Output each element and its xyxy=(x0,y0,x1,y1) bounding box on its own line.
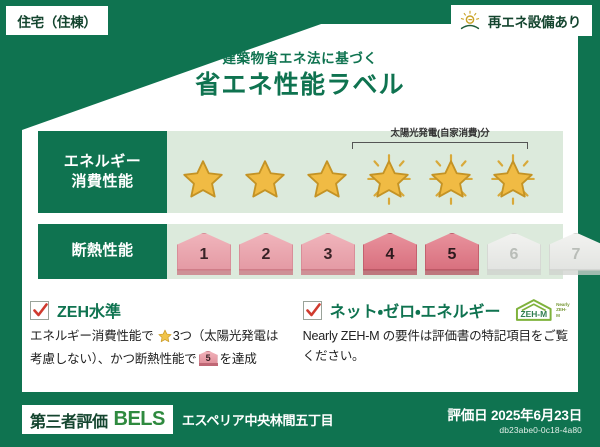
third-party-evaluation-text: 第三者評価 xyxy=(30,408,108,432)
property-name: エスペリア中央林間五丁目 xyxy=(182,410,334,429)
zeh-m-logo-subtext: Nearly ZEH-M xyxy=(556,302,570,318)
insulation-grade-4: 4 xyxy=(359,229,421,275)
dwelling-type-tag: 住宅（住棟） xyxy=(6,6,108,35)
zeh-body-before-star: エネルギー消費性能で xyxy=(30,329,153,343)
netzero-checkbox[interactable] xyxy=(303,301,322,320)
netzero-panel-header: ネット・ゼロ・エネルギー ZEH-M Nearly ZEH-M xyxy=(303,298,570,322)
svg-text:ZEH-M: ZEH-M xyxy=(520,309,547,319)
label-title-block: 建築物省エネ法に基づく 省エネ性能ラベル xyxy=(0,52,600,99)
star-5 xyxy=(421,152,483,210)
energy-performance-label-box: エネルギー 消費性能 xyxy=(38,131,167,213)
zeh-panel-header: ZEH水準 xyxy=(30,298,289,322)
evaluation-date: 評価日 2025年6月23日 xyxy=(447,404,582,424)
star-1 xyxy=(173,152,235,210)
footer-bar: 第三者評価 BELS エスペリア中央林間五丁目 評価日 2025年6月23日 d… xyxy=(0,392,600,447)
insulation-performance-label-box: 断熱性能 xyxy=(38,224,167,279)
star-6 xyxy=(483,152,545,210)
insulation-grade-number: 1 xyxy=(177,247,231,263)
insulation-grade-number: 4 xyxy=(363,247,417,263)
insulation-grade-6: 6 xyxy=(483,229,545,275)
insulation-grade-number: 6 xyxy=(487,247,541,263)
energy-performance-label: 住宅（住棟） 再エネ設備あり 建築物省エネ法に基づく 省エネ性能ラベル xyxy=(0,0,600,447)
insulation-grade-5: 5 xyxy=(421,229,483,275)
inline-star-icon xyxy=(158,329,172,350)
zeh-body-end: を達成 xyxy=(220,352,257,366)
bels-logo-text: BELS xyxy=(114,408,165,431)
sun-icon xyxy=(458,9,482,33)
insulation-grade-7: 7 xyxy=(545,229,600,275)
insulation-performance-row: 断熱性能 1 2 3 4 xyxy=(38,224,563,279)
zeh-panel-body: エネルギー消費性能で 3つ（太陽光発電は考慮しない）、かつ断熱性能で5を達成 xyxy=(30,327,289,369)
zeh-m-sub-line2: ZEH-M xyxy=(556,307,566,317)
evaluation-info: 評価日 2025年6月23日 db23abe0-0c18-4a80 xyxy=(447,404,582,435)
energy-label-line1: エネルギー xyxy=(64,152,142,172)
energy-star-scale xyxy=(167,131,563,213)
insulation-grade-list: 1 2 3 4 5 xyxy=(167,224,563,279)
insulation-grade-2: 2 xyxy=(235,229,297,275)
dwelling-type-text: 住宅（住棟） xyxy=(17,11,96,31)
netzero-panel-title: ネット・ゼロ・エネルギー xyxy=(330,298,501,322)
netzero-panel-body: Nearly ZEH-M の要件は評価書の特記項目をご覧ください。 xyxy=(303,327,570,366)
zeh-panel-title: ZEH水準 xyxy=(57,298,121,322)
energy-label-line2: 消費性能 xyxy=(71,172,133,192)
bels-certification-box: 第三者評価 BELS xyxy=(22,405,173,434)
renewable-badge-text: 再エネ設備あり xyxy=(488,11,581,31)
star-4 xyxy=(359,152,421,210)
zeh-m-logo: ZEH-M Nearly ZEH-M xyxy=(513,297,570,323)
insulation-grade-number: 7 xyxy=(549,247,600,263)
insulation-grade-number: 2 xyxy=(239,247,293,263)
inline-house-number: 5 xyxy=(199,354,218,363)
star-rating xyxy=(167,151,563,211)
label-subtitle: 建築物省エネ法に基づく xyxy=(0,52,600,67)
star-2 xyxy=(235,152,297,210)
evaluation-date-value: 2025年6月23日 xyxy=(491,408,582,423)
evaluation-date-label: 評価日 xyxy=(447,408,487,423)
renewable-equipment-badge: 再エネ設備あり xyxy=(451,5,592,36)
net-zero-energy-panel: ネット・ゼロ・エネルギー ZEH-M Nearly ZEH-M Nearly Z… xyxy=(303,298,570,369)
insulation-grade-1: 1 xyxy=(173,229,235,275)
zeh-m-sub-line1: Nearly xyxy=(556,302,569,307)
energy-performance-row: エネルギー 消費性能 xyxy=(38,131,563,213)
zeh-standard-panel: ZEH水準 エネルギー消費性能で 3つ（太陽光発電は考慮しない）、かつ断熱性能で… xyxy=(30,298,289,369)
insulation-grade-number: 5 xyxy=(425,247,479,263)
inline-house-badge: 5 xyxy=(199,351,218,366)
insulation-grade-scale: 1 2 3 4 5 xyxy=(167,224,563,279)
evaluation-id: db23abe0-0c18-4a80 xyxy=(447,425,582,435)
insulation-grade-3: 3 xyxy=(297,229,359,275)
label-title: 省エネ性能ラベル xyxy=(0,72,600,100)
criteria-panels: ZEH水準 エネルギー消費性能で 3つ（太陽光発電は考慮しない）、かつ断熱性能で… xyxy=(30,298,570,369)
star-3 xyxy=(297,152,359,210)
insulation-grade-number: 3 xyxy=(301,247,355,263)
insulation-label-text: 断熱性能 xyxy=(71,241,133,261)
zeh-checkbox[interactable] xyxy=(30,301,49,320)
